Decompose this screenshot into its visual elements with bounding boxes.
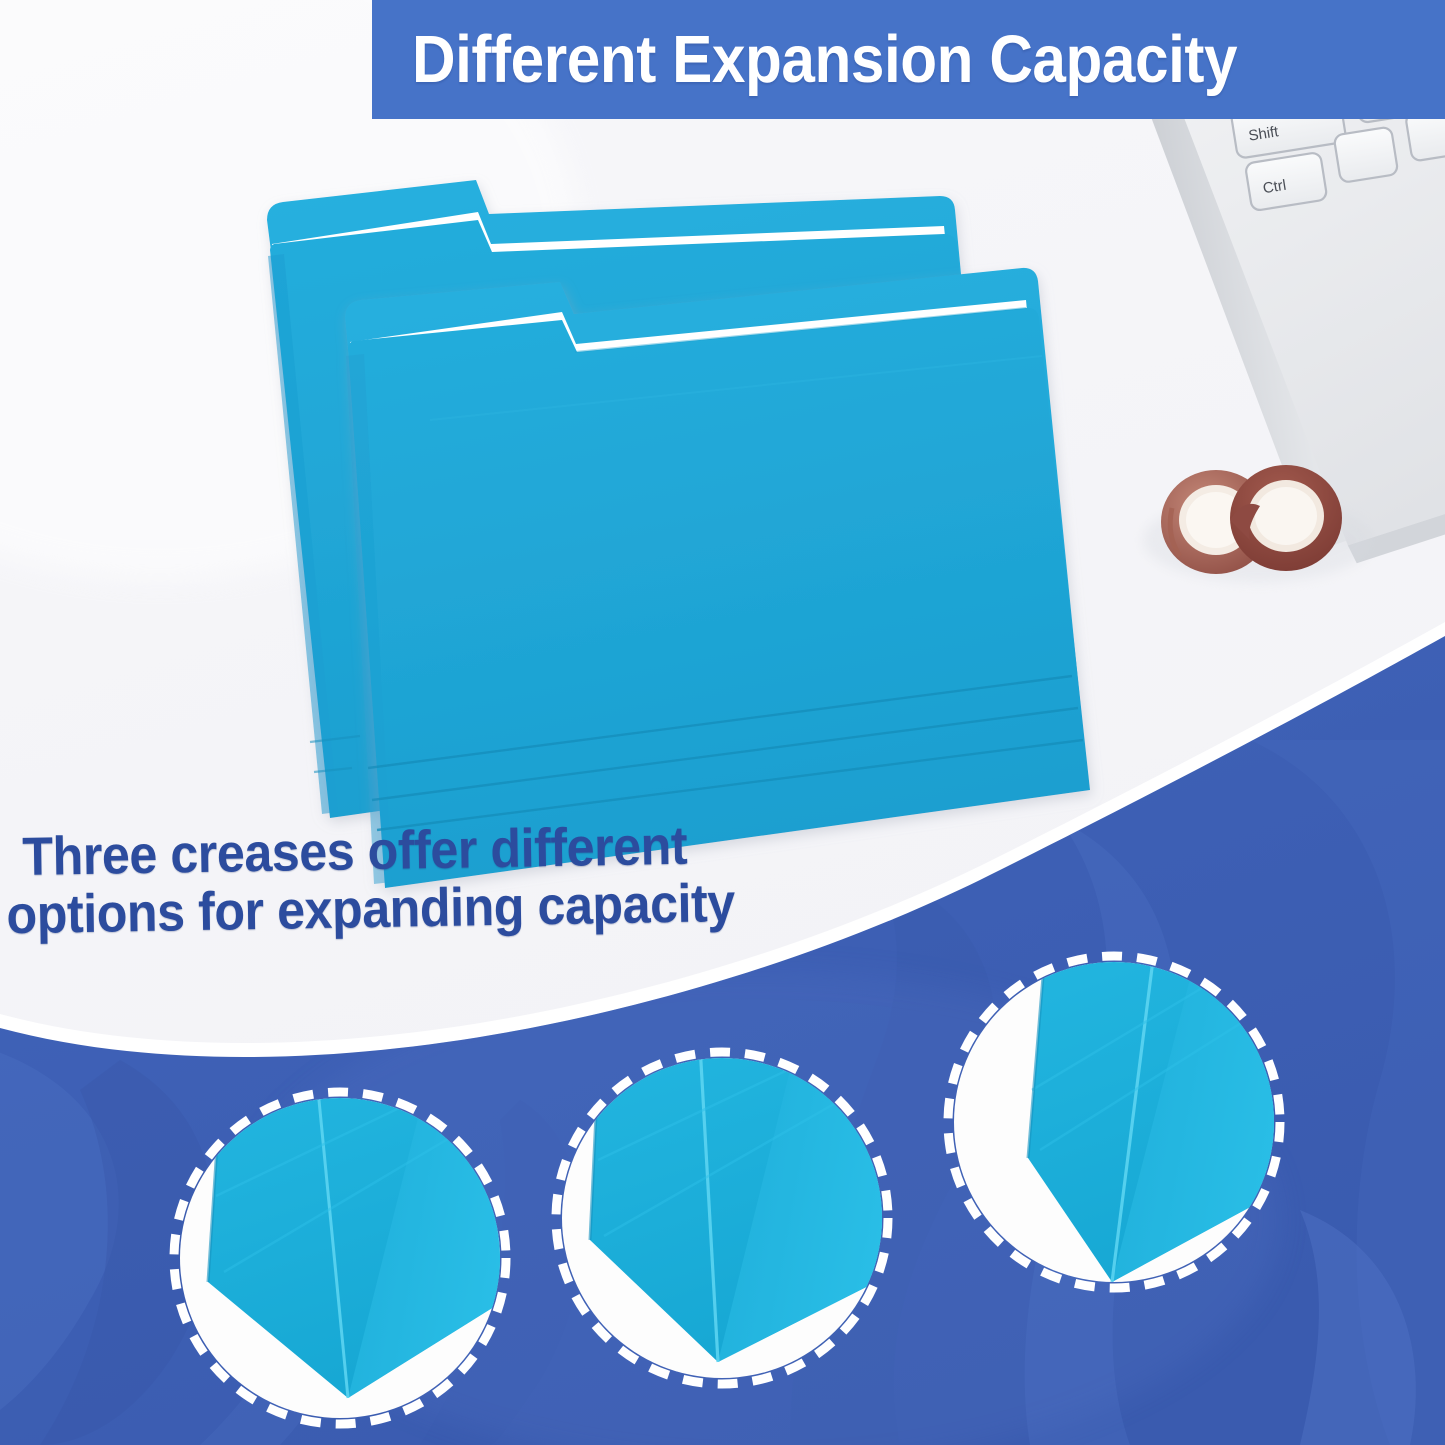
caption-text: Three creases offer different options fo… [22, 814, 842, 944]
crease-detail-circles [0, 0, 1445, 1445]
header-banner: Different Expansion Capacity [372, 0, 1445, 119]
crease-detail-3 [948, 940, 1300, 1288]
crease-detail-2 [556, 1030, 905, 1384]
crease-detail-1 [174, 1070, 520, 1424]
page-title: Different Expansion Capacity [412, 26, 1237, 93]
product-marketing-image: Caps Shift Ctrl Z X C Alt [0, 0, 1445, 1445]
